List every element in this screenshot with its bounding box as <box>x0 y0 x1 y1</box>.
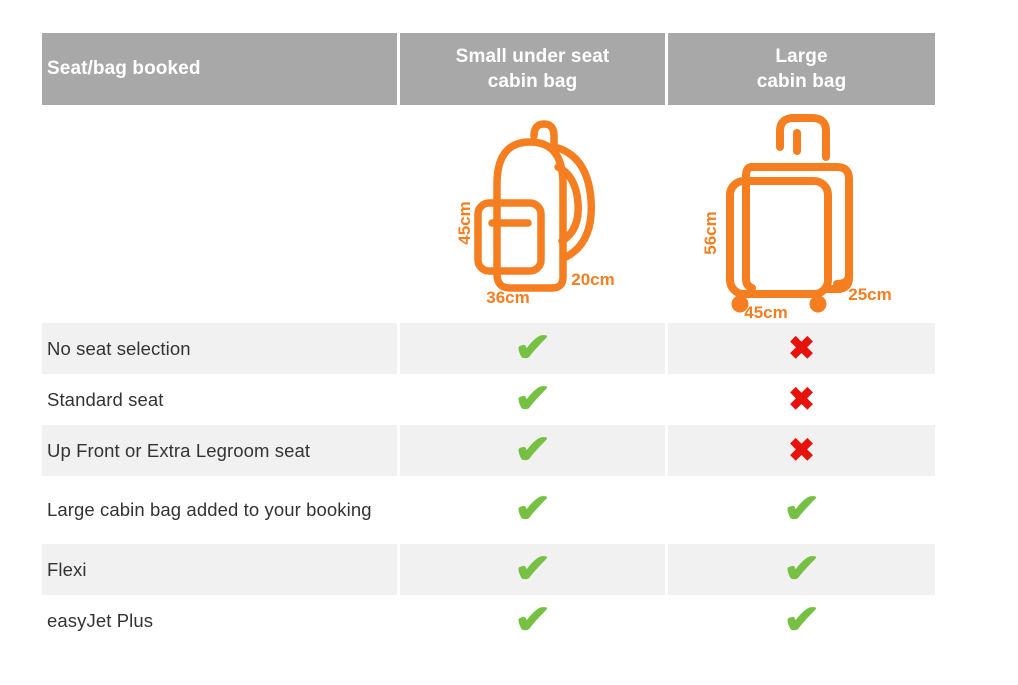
header-label-large-line-2: cabin bag <box>757 69 847 94</box>
allowed-check-icon: ✔ <box>783 489 821 529</box>
large-cabin-bag-status-cell: ✖ <box>668 374 935 425</box>
row-label-cell: Standard seat <box>42 374 397 425</box>
small-cabin-bag-status-cell: ✔ <box>400 544 665 595</box>
header-label-seat-bag-booked: Seat/bag booked <box>47 57 201 81</box>
allowed-check-icon: ✔ <box>514 549 552 589</box>
allowed-check-icon: ✔ <box>514 489 552 529</box>
header-label-small-line-2: cabin bag <box>456 69 610 94</box>
allowed-check-icon: ✔ <box>514 328 552 368</box>
row-label-cell: easyJet Plus <box>42 595 397 646</box>
table-row: easyJet Plus✔✔ <box>42 595 932 646</box>
allowed-check-icon: ✔ <box>783 549 821 589</box>
allowed-check-icon: ✔ <box>783 600 821 640</box>
table-row: Up Front or Extra Legroom seat✔✖ <box>42 425 932 476</box>
illustration-cell-empty <box>42 105 397 323</box>
table-row: Standard seat✔✖ <box>42 374 932 425</box>
not-allowed-cross-icon: ✖ <box>788 332 815 364</box>
large-cabin-bag-status-cell: ✔ <box>668 595 935 646</box>
large-cabin-bag-status-cell: ✔ <box>668 544 935 595</box>
large-bag-illustration: 56cm 45cm 25cm <box>668 105 935 323</box>
cabin-bag-allowance-page: Seat/bag booked Small under seat cabin b… <box>0 0 1018 685</box>
large-bag-width-label: 45cm <box>744 303 787 320</box>
row-label: No seat selection <box>47 334 191 364</box>
large-bag-height-label: 56cm <box>702 211 720 254</box>
small-cabin-bag-status-cell: ✔ <box>400 476 665 544</box>
header-cell-large-cabin-bag: Large cabin bag <box>668 33 935 105</box>
header-cell-seat-bag-booked: Seat/bag booked <box>42 33 397 105</box>
large-bag-depth-label: 25cm <box>848 285 891 304</box>
cabin-bag-allowance-table: Seat/bag booked Small under seat cabin b… <box>42 33 932 646</box>
backpack-icon: 45cm 36cm 20cm <box>450 111 640 311</box>
suitcase-icon: 56cm 45cm 25cm <box>702 105 902 320</box>
small-bag-width-label: 36cm <box>486 288 529 307</box>
table-row: Flexi✔✔ <box>42 544 932 595</box>
row-label: Flexi <box>47 555 87 585</box>
row-label: Standard seat <box>47 385 164 415</box>
table-row: No seat selection✔✖ <box>42 323 932 374</box>
large-cabin-bag-status-cell: ✔ <box>668 476 935 544</box>
small-cabin-bag-status-cell: ✔ <box>400 595 665 646</box>
illustration-cell-large-bag: 56cm 45cm 25cm <box>668 105 935 323</box>
row-label-cell: Large cabin bag added to your booking <box>42 476 397 544</box>
header-label-large-line-1: Large <box>757 44 847 69</box>
small-cabin-bag-status-cell: ✔ <box>400 374 665 425</box>
table-header-row: Seat/bag booked Small under seat cabin b… <box>42 33 932 105</box>
not-allowed-cross-icon: ✖ <box>788 383 815 415</box>
allowed-check-icon: ✔ <box>514 379 552 419</box>
header-cell-small-cabin-bag: Small under seat cabin bag <box>400 33 665 105</box>
small-cabin-bag-status-cell: ✔ <box>400 425 665 476</box>
table-illustration-row: 45cm 36cm 20cm <box>42 105 932 323</box>
row-label: Up Front or Extra Legroom seat <box>47 436 310 466</box>
row-label: Large cabin bag added to your booking <box>47 495 372 525</box>
row-label-cell: No seat selection <box>42 323 397 374</box>
header-label-small-cabin-bag: Small under seat cabin bag <box>456 44 610 94</box>
allowed-check-icon: ✔ <box>514 430 552 470</box>
large-cabin-bag-status-cell: ✖ <box>668 425 935 476</box>
table-row: Large cabin bag added to your booking✔✔ <box>42 476 932 544</box>
allowed-check-icon: ✔ <box>514 600 552 640</box>
not-allowed-cross-icon: ✖ <box>788 434 815 466</box>
small-cabin-bag-status-cell: ✔ <box>400 323 665 374</box>
small-bag-height-label: 45cm <box>455 201 474 244</box>
table-body: No seat selection✔✖Standard seat✔✖Up Fro… <box>42 323 932 646</box>
row-label-cell: Up Front or Extra Legroom seat <box>42 425 397 476</box>
large-cabin-bag-status-cell: ✖ <box>668 323 935 374</box>
row-label: easyJet Plus <box>47 606 153 636</box>
header-label-large-cabin-bag: Large cabin bag <box>757 44 847 94</box>
header-label-small-line-1: Small under seat <box>456 44 610 69</box>
small-bag-illustration: 45cm 36cm 20cm <box>400 105 665 323</box>
row-label-cell: Flexi <box>42 544 397 595</box>
illustration-cell-small-bag: 45cm 36cm 20cm <box>400 105 665 323</box>
small-bag-depth-label: 20cm <box>571 270 614 289</box>
